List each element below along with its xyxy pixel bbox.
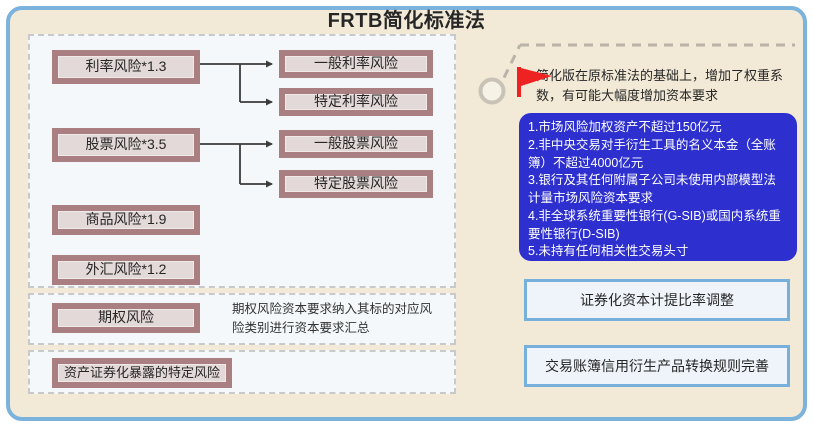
option-risk-note: 期权风险资本要求纳入其标的对应风险类别进行资本要求汇总: [232, 300, 442, 338]
callout-text: 简化版在原标准法的基础上，增加了权重系数，有可能大幅度增加资本要求: [536, 66, 800, 106]
conditions-panel: 1.市场风险加权资产不超过150亿元 2.非中央交易对手衍生工具的名义本金（全账…: [519, 113, 797, 261]
risk-box-specific-interest-rate[interactable]: 特定利率风险: [279, 88, 433, 116]
risk-box-fx[interactable]: 外汇风险*1.2: [52, 255, 200, 285]
condition-item-1: 1.市场风险加权资产不超过150亿元: [528, 119, 788, 137]
risk-box-general-equity[interactable]: 一般股票风险: [279, 130, 433, 158]
risk-box-equity[interactable]: 股票风险*3.5: [52, 128, 200, 162]
risk-box-interest-rate[interactable]: 利率风险*1.3: [52, 50, 200, 84]
risk-box-specific-equity[interactable]: 特定股票风险: [279, 170, 433, 198]
condition-item-5: 5.未持有任何相关性交易头寸: [528, 243, 788, 261]
risk-box-commodity[interactable]: 商品风险*1.9: [52, 205, 200, 235]
risk-box-securitization[interactable]: 资产证券化暴露的特定风险: [52, 358, 232, 388]
box-credit-derivative-conversion[interactable]: 交易账簿信用衍生产品转换规则完善: [524, 345, 790, 387]
page-title: FRTB简化标准法: [0, 4, 813, 33]
risk-box-general-interest-rate[interactable]: 一般利率风险: [279, 50, 433, 78]
risk-box-option[interactable]: 期权风险: [52, 303, 200, 333]
diagram-canvas: FRTB简化标准法 利率风险*1.3 股票风险*3.5 商品风险*1.9 外汇风…: [0, 0, 813, 427]
condition-item-3: 3.银行及其任何附属子公司未使用内部模型法计量市场风险资本要求: [528, 172, 788, 208]
box-securitization-capital-ratio[interactable]: 证券化资本计提比率调整: [524, 279, 790, 321]
condition-item-4: 4.非全球系统重要性银行(G-SIB)或国内系统重要性银行(D-SIB): [528, 208, 788, 244]
condition-item-2: 2.非中央交易对手衍生工具的名义本金（全账簿）不超过4000亿元: [528, 137, 788, 173]
